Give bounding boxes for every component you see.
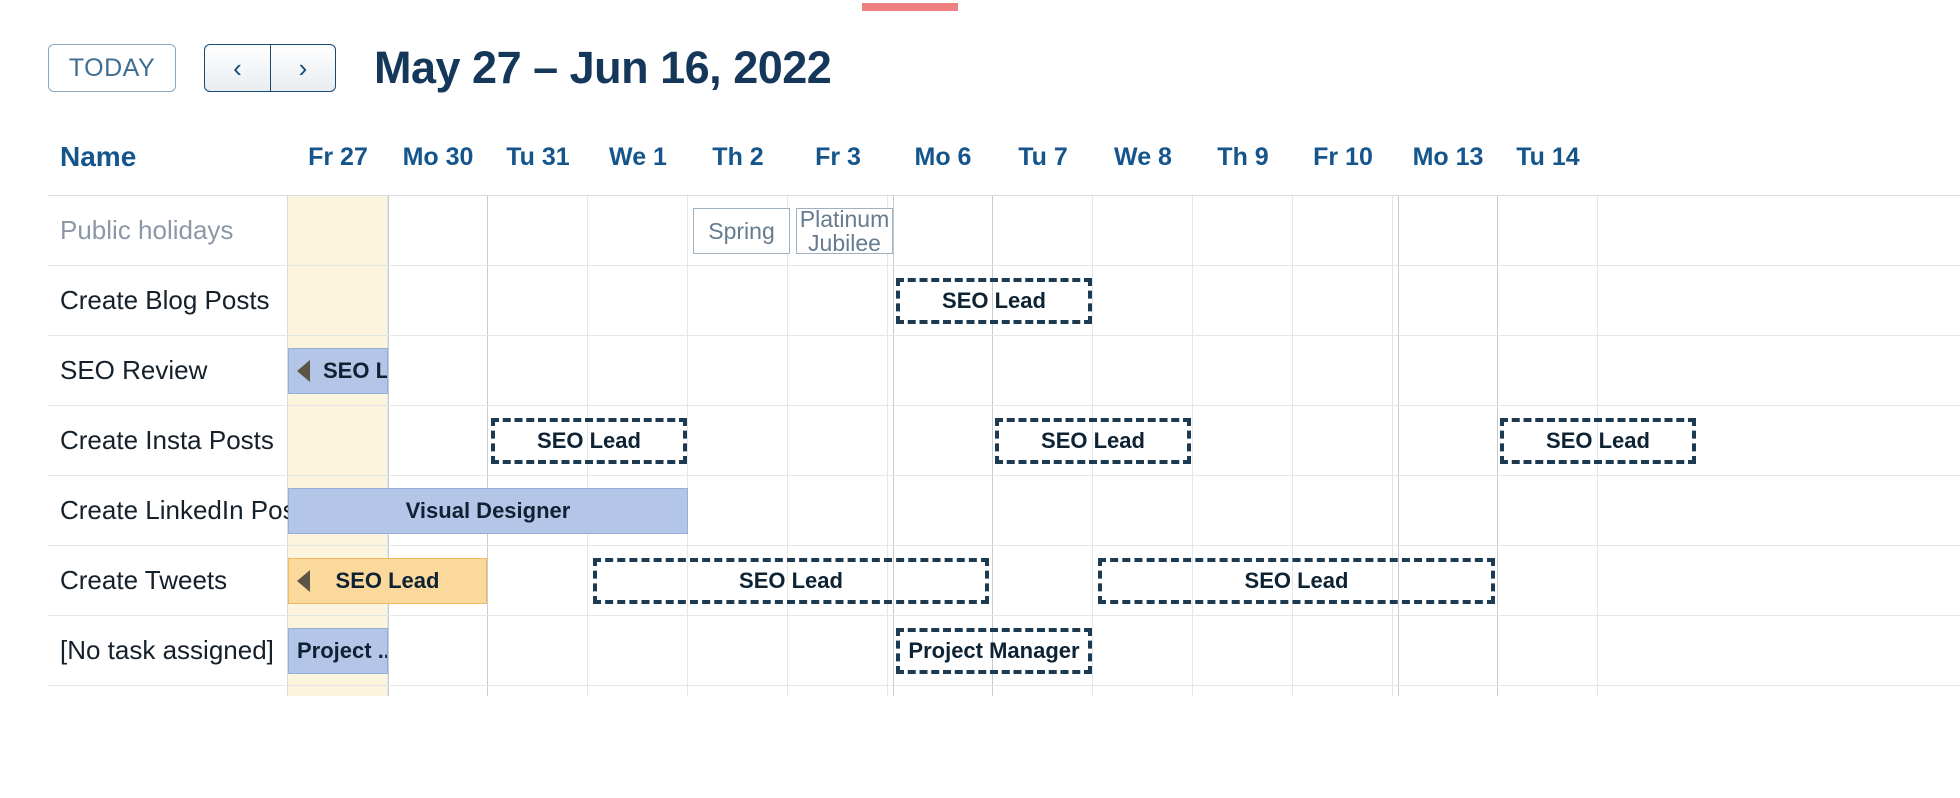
gantt-row[interactable]: Create TweetsSEO LeadSEO LeadSEO Lead — [48, 546, 1960, 616]
gantt-grid: NameFr 27Mo 30Tu 31We 1Th 2Fr 3Mo 6Tu 7W… — [48, 118, 1960, 798]
gantt-task-bar[interactable]: SEO Lead — [491, 418, 687, 464]
gantt-row[interactable]: [No task assigned]Project ...Project Man… — [48, 616, 1960, 686]
column-header-name[interactable]: Name — [48, 118, 288, 196]
gantt-row[interactable]: Create Blog PostsSEO Lead — [48, 266, 1960, 336]
holiday-chip[interactable]: Platinum Jubilee — [796, 208, 893, 254]
column-header-day[interactable]: Tu 7 — [993, 118, 1093, 196]
column-header-day[interactable]: We 1 — [588, 118, 688, 196]
next-period-icon[interactable]: › — [270, 45, 335, 91]
gantt-row[interactable]: Create LinkedIn PostsVisual Designer — [48, 476, 1960, 546]
column-header-day[interactable]: Fr 27 — [288, 118, 388, 196]
column-header-day[interactable]: Th 9 — [1193, 118, 1293, 196]
date-range-title: May 27 – Jun 16, 2022 — [374, 42, 831, 94]
task-name-label: Create Tweets — [60, 546, 227, 615]
task-name-label: Public holidays — [60, 196, 233, 265]
column-header-day[interactable]: Fr 3 — [788, 118, 888, 196]
column-header-day[interactable]: Fr 10 — [1293, 118, 1393, 196]
task-name-label: Create Blog Posts — [60, 266, 270, 335]
task-name-label: [No task assigned] — [60, 616, 274, 685]
column-header-day[interactable]: We 8 — [1093, 118, 1193, 196]
previous-period-icon[interactable]: ‹ — [205, 45, 270, 91]
gantt-task-bar[interactable]: SEO Lead — [896, 278, 1092, 324]
holiday-chip[interactable]: Spring — [693, 208, 790, 254]
column-header-day[interactable]: Mo 13 — [1398, 118, 1498, 196]
gantt-task-bar[interactable]: SEO Lead — [995, 418, 1191, 464]
top-accent-bar — [862, 3, 958, 11]
column-header-day[interactable]: Tu 31 — [488, 118, 588, 196]
gantt-task-bar[interactable]: SEO Lead — [288, 348, 388, 394]
date-nav-group: ‹ › — [204, 44, 336, 92]
task-name-label: Create LinkedIn Posts — [60, 476, 316, 545]
column-header-day[interactable]: Mo 6 — [893, 118, 993, 196]
gantt-task-bar[interactable]: SEO Lead — [593, 558, 989, 604]
gantt-header-row: NameFr 27Mo 30Tu 31We 1Th 2Fr 3Mo 6Tu 7W… — [48, 118, 1960, 196]
task-name-label: Create Insta Posts — [60, 406, 274, 475]
gantt-chart[interactable]: NameFr 27Mo 30Tu 31We 1Th 2Fr 3Mo 6Tu 7W… — [48, 118, 1960, 798]
today-button[interactable]: TODAY — [48, 44, 176, 92]
column-header-day[interactable]: Tu 14 — [1498, 118, 1598, 196]
gantt-row[interactable]: SEO ReviewSEO Lead — [48, 336, 1960, 406]
column-header-day[interactable]: Th 2 — [688, 118, 788, 196]
task-name-label: SEO Review — [60, 336, 207, 405]
calendar-toolbar: TODAY ‹ › May 27 – Jun 16, 2022 — [0, 32, 1960, 104]
gantt-task-bar[interactable]: SEO Lead — [1500, 418, 1696, 464]
gantt-task-bar[interactable]: Project Manager — [896, 628, 1092, 674]
gantt-task-bar[interactable]: SEO Lead — [1098, 558, 1495, 604]
gantt-task-bar[interactable]: SEO Lead — [288, 558, 487, 604]
gantt-row[interactable]: Public holidaysSpringPlatinum Jubilee — [48, 196, 1960, 266]
gantt-task-bar[interactable]: Project ... — [288, 628, 388, 674]
gantt-task-bar[interactable]: Visual Designer — [288, 488, 688, 534]
column-header-day[interactable]: Mo 30 — [388, 118, 488, 196]
gantt-row[interactable]: Create Insta PostsSEO LeadSEO LeadSEO Le… — [48, 406, 1960, 476]
